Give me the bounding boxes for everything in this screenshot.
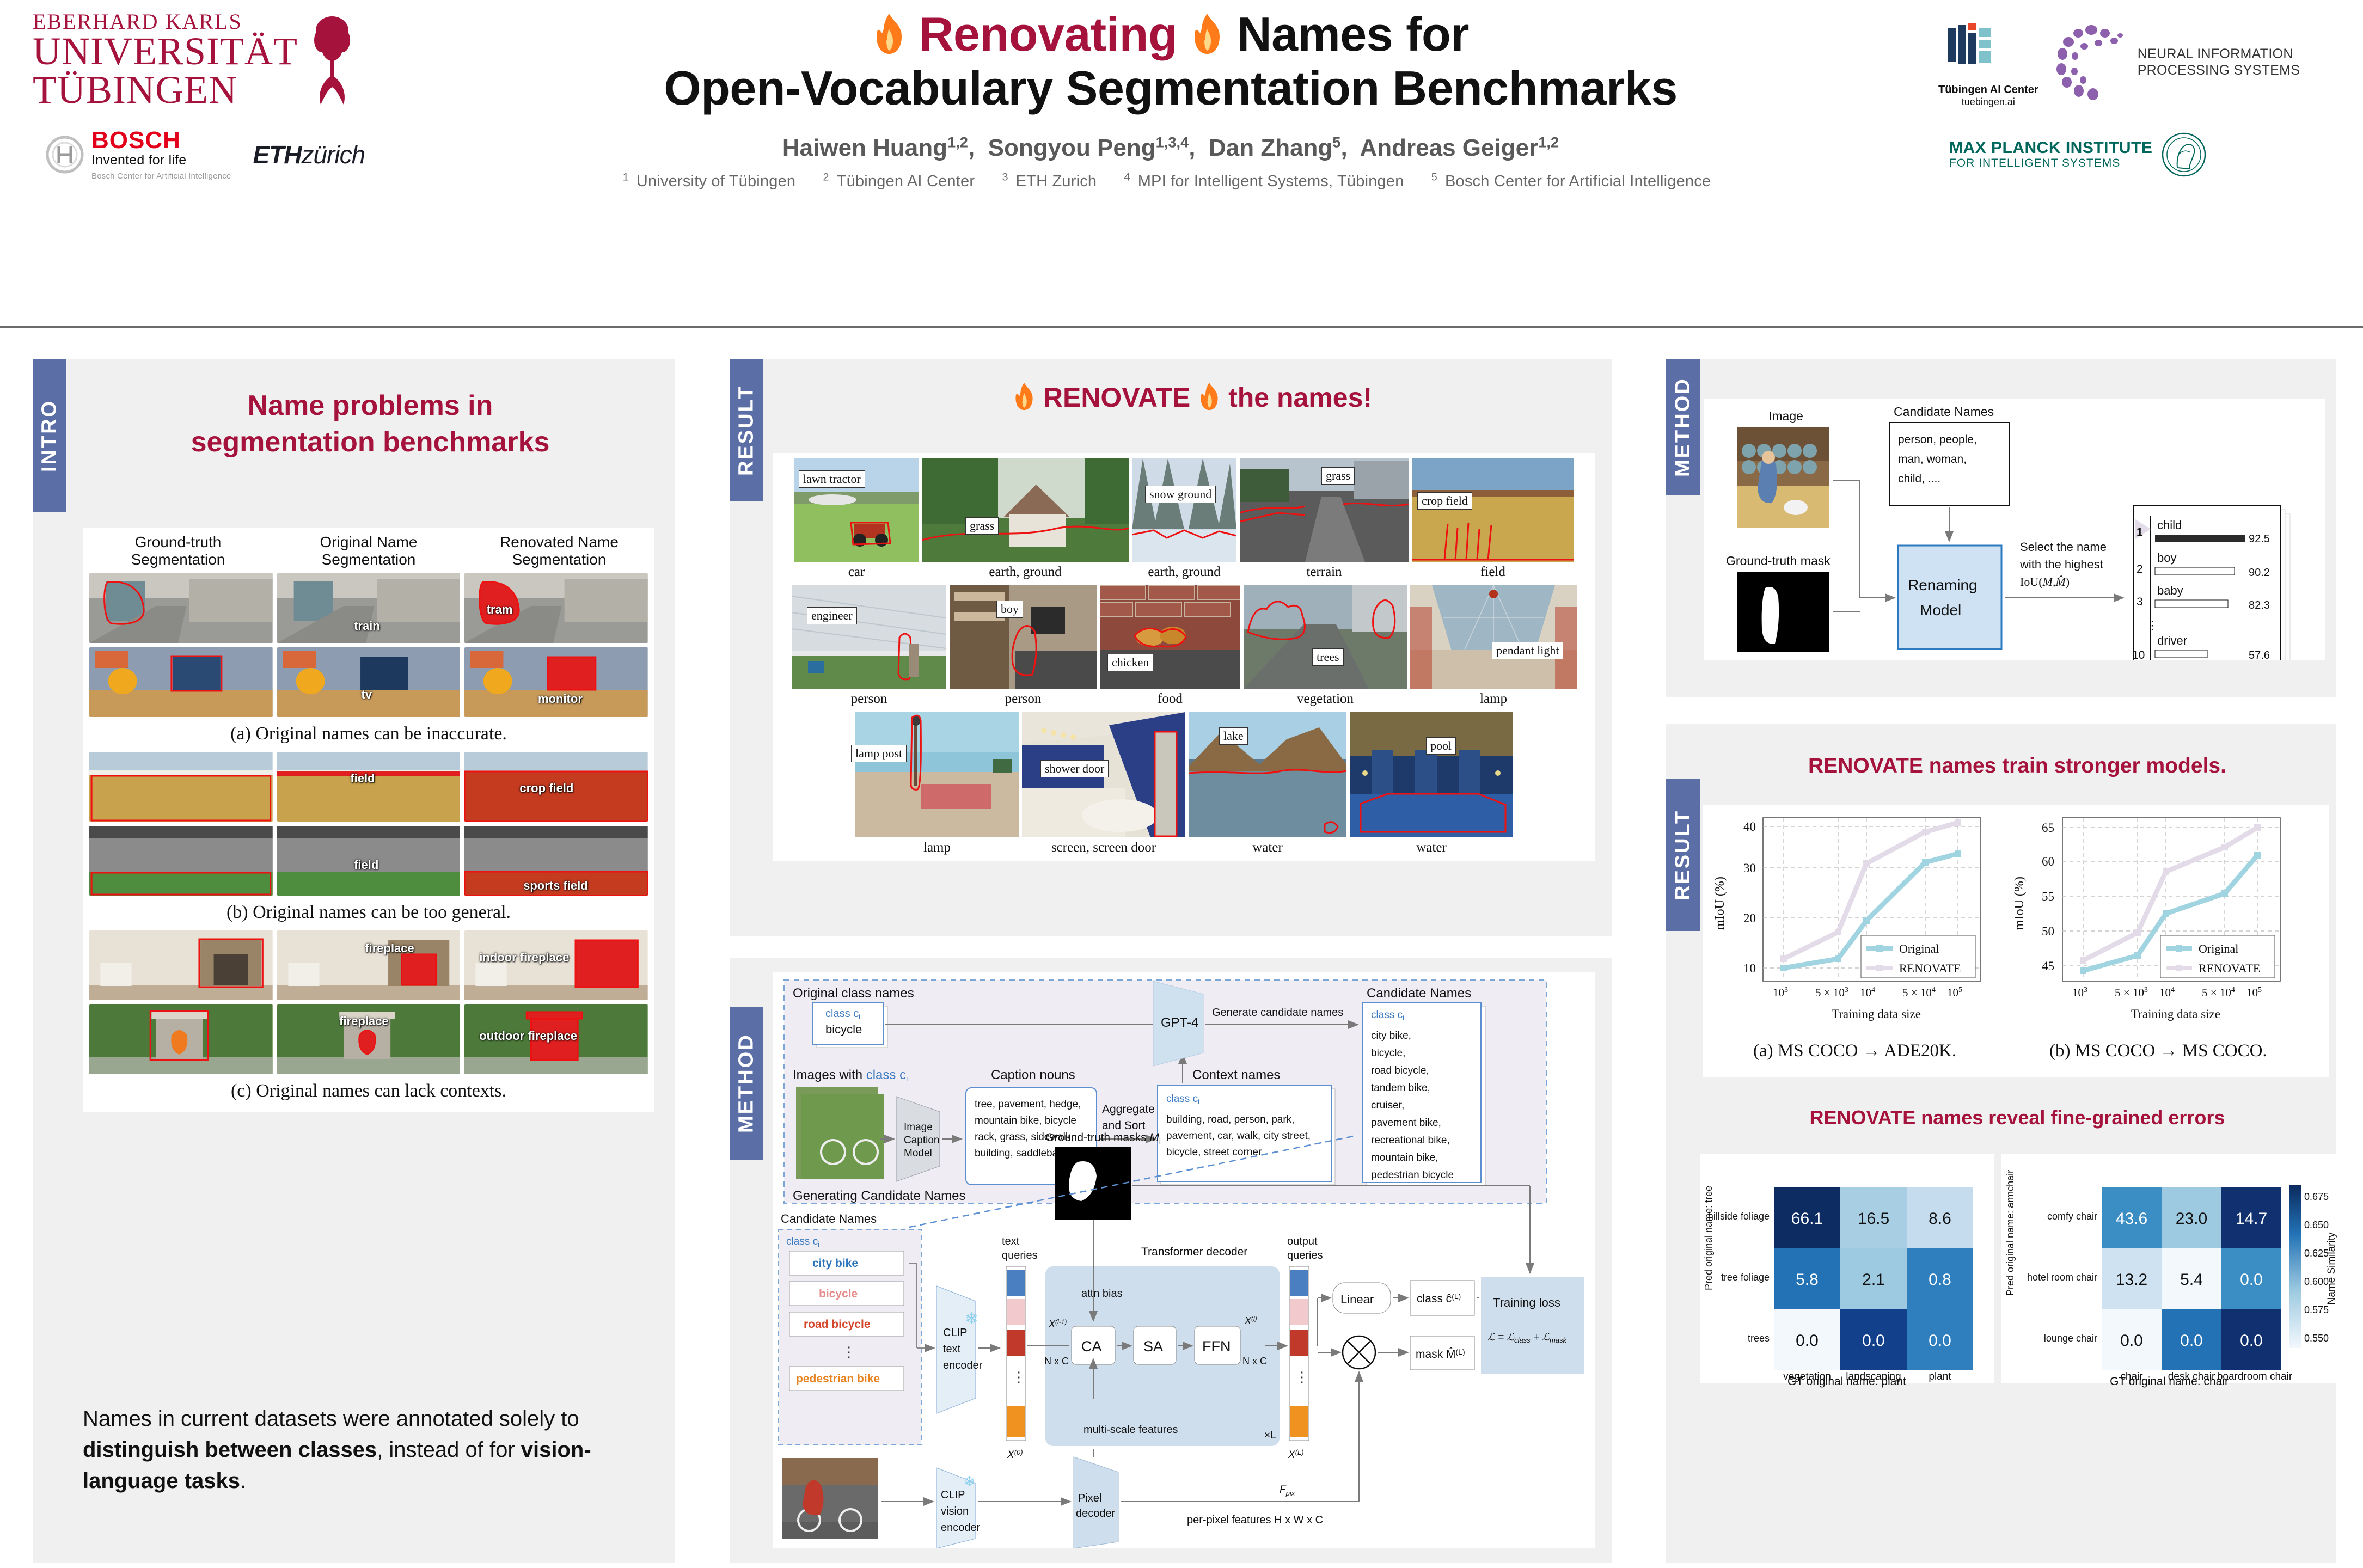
svg-text:road bicycle,: road bicycle, [1371, 1065, 1429, 1076]
rank-3-index: 3 [2137, 596, 2143, 608]
bubble-pool: pool [1426, 737, 1456, 755]
intro-label-renov: indoor fireplace [479, 951, 569, 964]
label-stage1-title: Generating Candidate Names [793, 1189, 966, 1203]
svg-text:CLIP: CLIP [943, 1327, 967, 1339]
svg-text:pedestrian bicycle: pedestrian bicycle [1371, 1169, 1454, 1181]
colorbar-tick-1: 0.650 [2304, 1220, 2329, 1230]
result-grid-panel: RESULT RENOVATE the names! [730, 359, 1612, 936]
tue-hexagon-icon [1938, 16, 1998, 81]
label-select-1: Select the name [2020, 540, 2107, 554]
svg-text:CLIP: CLIP [941, 1489, 965, 1501]
neurips-line2: PROCESSING SYSTEMS [2138, 62, 2300, 78]
svg-text:Fpix: Fpix [1280, 1484, 1295, 1497]
label-caption-model-3: Model [904, 1148, 932, 1159]
intro-row-tram: train tram [83, 573, 654, 643]
intro-cell-orig: train [277, 573, 461, 643]
intro-cell-orig: fireplace [277, 930, 461, 1000]
heatmap2-cell-2-0: 0.0 [2120, 1332, 2143, 1350]
svg-text:road bicycle: road bicycle [804, 1318, 871, 1331]
poster-header: EBERHARD KARLS UNIVERSITÄT TÜBINGEN [0, 0, 2363, 348]
bosch-logo: BOSCH Invented for life Bosch Center for… [46, 128, 231, 181]
svg-text:class ci: class ci [1371, 1009, 1404, 1022]
uni-name-line2: TÜBINGEN [33, 71, 298, 109]
fire-icon-right-2 [1198, 382, 1221, 411]
colorbar-tick-5: 0.550 [2304, 1333, 2329, 1344]
heatmap2-cell-1-1: 5.4 [2180, 1271, 2203, 1289]
heatmap1-cell-0-1: 16.5 [1858, 1210, 1889, 1228]
neurips-swirl-icon [2050, 21, 2132, 103]
label-candidate-names-1: Candidate Names [1367, 986, 1471, 1001]
label-images-with: Images with class ci [793, 1068, 908, 1083]
bubble-snow-ground: snow ground [1145, 486, 1216, 503]
intro-label-orig: train [354, 619, 380, 633]
heatmap2-cell-1-0: 13.2 [2116, 1271, 2147, 1289]
title-block: Renovating Names for Open-Vocabulary Seg… [425, 8, 1917, 191]
heatmap1-ytick-1: tree foliage [1721, 1272, 1770, 1283]
svg-text:tandem bike,: tandem bike, [1371, 1082, 1430, 1094]
chart-a-xtick-2: 104 [1860, 986, 1875, 999]
caption-earth-ground-1: earth, ground [922, 565, 1129, 580]
chart-b-caption: (b) MS COCO → MS COCO. [2049, 1041, 2267, 1061]
chart-a-ylabel: mIoU (%) [1713, 877, 1727, 930]
caption-terrain: terrain [1240, 565, 1409, 580]
label-gpt4: GPT-4 [1161, 1015, 1198, 1030]
label-per-pixel: per-pixel features H x W x C [1187, 1514, 1323, 1526]
text-context-2: pavement, car, walk, city street, [1166, 1130, 1311, 1142]
mpi-line2: FOR INTELLIGENT SYSTEMS [1949, 157, 2152, 170]
bubble-crop-field: crop field [1417, 492, 1472, 510]
label-generate-arrow: Generate candidate names [1212, 1007, 1343, 1019]
result-charts-title: RENOVATE names train stronger models. [1710, 752, 2325, 780]
heatmap1-cell-0-0: 66.1 [1791, 1210, 1823, 1228]
heatmap2-ylabel: Pred original name: armchair [2005, 1170, 2016, 1296]
chart-a-ytick-20: 20 [1743, 911, 1756, 925]
tuebingen-ai-center-logo: Tübingen AI Center tuebingen.ai [1938, 16, 2038, 108]
text-caption-nouns-4: building, saddlebag [975, 1148, 1064, 1159]
label-original-class-names: Original class names [793, 986, 914, 1001]
svg-text:encoder: encoder [943, 1359, 983, 1371]
intro-note-part3: . [240, 1469, 246, 1493]
svg-text:⋮: ⋮ [1295, 1369, 1309, 1385]
eth-bold: ETH [253, 140, 301, 169]
result-grid-title-rest: the names! [1228, 382, 1372, 413]
examples-row-1: lawn tractor car grass earth, ground [776, 458, 1592, 580]
rank-2-name: boy [2157, 551, 2176, 565]
svg-text:class ci: class ci [786, 1236, 819, 1248]
intro-row-sportsfield: field sports field [83, 826, 654, 896]
chart-b-xtick-0: 103 [2072, 986, 2087, 999]
intro-note-part1: Names in current datasets were annotated… [83, 1407, 579, 1431]
heatmap1-cell-1-2: 0.8 [1929, 1271, 1951, 1289]
affiliation-2: 3ETH Zurich [1002, 173, 1104, 190]
intro-label-orig: fireplace [365, 941, 414, 955]
chart-a-ytick-10: 10 [1743, 961, 1756, 975]
label-caption-model-2: Caption [904, 1135, 940, 1146]
heatmap2-ytick-2: lounge chair [2044, 1333, 2097, 1344]
heatmap2-cell-1-2: 0.0 [2240, 1271, 2263, 1289]
chart-a-legend-original: Original [1899, 942, 1939, 955]
heatmaps-row: Pred original name: tree hillside foliag… [1700, 1154, 2337, 1394]
svg-text:⋮: ⋮ [1012, 1369, 1026, 1385]
example-screen-door: shower door screen, screen door [1022, 712, 1185, 855]
svg-text:⋮: ⋮ [842, 1344, 856, 1360]
label-text-queries-2: queries [1002, 1249, 1038, 1261]
label-attn-bias: attn bias [1081, 1288, 1123, 1300]
bubble-shower-door: shower door [1040, 760, 1109, 777]
example-terrain: grass terrain [1240, 458, 1409, 580]
intro-label-orig: tv [362, 688, 372, 702]
text-candidates-1: person, people, [1898, 433, 1977, 446]
heatmap2-cell-0-1: 23.0 [2176, 1210, 2207, 1228]
heatmap2-cell-0-0: 43.6 [2116, 1210, 2147, 1228]
svg-text:X(0): X(0) [1007, 1448, 1023, 1461]
chart-a-ytick-40: 40 [1743, 820, 1756, 834]
bubble-lamp-post: lamp post [851, 745, 907, 762]
chart-b-ytick-55: 55 [2042, 890, 2054, 903]
example-lamp-2: lamp post lamp [855, 712, 1019, 855]
rank-2-score: 90.2 [2249, 567, 2270, 579]
renovate-examples-grid: lawn tractor car grass earth, ground [773, 453, 1595, 861]
rank-10-index: 10 [2132, 649, 2145, 660]
intro-figure: Ground-truthSegmentation Original NameSe… [83, 528, 654, 1112]
intro-label-orig: field [350, 771, 375, 786]
caption-car: car [794, 565, 919, 580]
section-tab-result-1: RESULT [730, 359, 763, 501]
bubble-lawn-tractor: lawn tractor [799, 470, 865, 488]
examples-row-3: lamp post lamp shower door screen, scree… [776, 712, 1592, 855]
rank-10-name: driver [2157, 634, 2187, 647]
label-context-names: Context names [1192, 1068, 1280, 1082]
caption-screen-door: screen, screen door [1022, 840, 1185, 855]
chart-b-ytick-60: 60 [2042, 855, 2054, 868]
heatmap1-cell-1-1: 2.1 [1862, 1271, 1885, 1289]
caption-food: food [1100, 691, 1240, 707]
intro-row-outdoor-fireplace: fireplace outdoor fireplace [83, 1004, 654, 1074]
header-divider [0, 326, 2363, 328]
chart-b-xtick-4: 105 [2246, 986, 2262, 999]
chart-b-legend-renovate: RENOVATE [2199, 961, 2260, 975]
svg-text:cruiser,: cruiser, [1371, 1100, 1404, 1111]
author-2: Dan Zhang5 [1209, 134, 1341, 161]
intro-note-part2: , instead of for [377, 1438, 521, 1462]
label-candidate-names-2: Candidate Names [781, 1212, 877, 1226]
author-3: Andreas Geiger1,2 [1360, 134, 1559, 161]
intro-label-renov: sports field [523, 879, 588, 893]
label-multi-scale: multi-scale features [1083, 1424, 1178, 1436]
intro-cell-renov: sports field [464, 826, 648, 896]
affiliation-0: 1University of Tübingen [623, 173, 804, 190]
svg-text:⋮: ⋮ [2146, 618, 2158, 632]
intro-title-line1: Name problems in [82, 388, 659, 424]
example-car: lawn tractor car [794, 458, 919, 580]
intro-label-renov: crop field [519, 781, 573, 795]
heatmap2-ytick-1: hotel room chair [2027, 1272, 2097, 1283]
caption-lamp-2: lamp [855, 840, 1019, 855]
chart-a-xtick-4: 105 [1947, 986, 1962, 999]
bubble-chicken: chicken [1107, 654, 1153, 671]
text-context-1: building, road, person, park, [1166, 1114, 1295, 1125]
heatmap1-cell-1-0: 5.8 [1796, 1271, 1819, 1289]
eth-zurich-logo: ETHzürich [253, 140, 365, 169]
intro-cell-renov: indoor fireplace [464, 930, 648, 1000]
intro-cell-gt [89, 1004, 273, 1074]
tuebingen-tree-icon [311, 14, 353, 107]
intro-cell-renov: outdoor fireplace [464, 1004, 648, 1074]
right-logo-group: Tübingen AI Center tuebingen.ai [1938, 16, 2341, 177]
affiliation-list: 1University of Tübingen 2Tübingen AI Cen… [425, 171, 1917, 191]
label-text-queries-1: text [1002, 1235, 1020, 1247]
heatmap1-ytick-0: hillside foliage [1708, 1211, 1770, 1222]
intro-cell-gt [89, 573, 273, 643]
minerva-icon [2161, 132, 2207, 177]
caption-person-1: person [792, 691, 946, 707]
chart-a-legend-renovate: RENOVATE [1899, 961, 1961, 975]
example-earth-ground-2: snow ground earth, ground [1132, 458, 1236, 580]
affiliation-1: 2Tübingen AI Center [823, 173, 983, 190]
poster-root: EBERHARD KARLS UNIVERSITÄT TÜBINGEN [0, 0, 2363, 1568]
bubble-grass-1: grass [965, 517, 999, 535]
intro-col-2: Renovated NameSegmentation [464, 534, 654, 569]
text-caption-nouns-2: mountain bike, bicycle [975, 1115, 1076, 1126]
colorbar-label: Name Similarity [2326, 1232, 2337, 1305]
caption-field: field [1412, 565, 1574, 580]
result-heatmaps-title: RENOVATE names reveal fine-grained error… [1710, 1105, 2325, 1130]
bubble-pendant-light: pendant light [1492, 642, 1563, 659]
bubble-grass-2: grass [1321, 467, 1355, 485]
colorbar-tick-2: 0.625 [2304, 1248, 2329, 1259]
intro-cell-renov: tram [464, 573, 648, 643]
mpi-line1: MAX PLANCK INSTITUTE [1949, 139, 2152, 157]
example-earth-ground-1: grass earth, ground [922, 458, 1129, 580]
svg-text:X(L): X(L) [1288, 1448, 1304, 1461]
intro-panel: INTRO Name problems in segmentation benc… [33, 359, 675, 1563]
sponsor-logo-row: BOSCH Invented for life Bosch Center for… [46, 128, 425, 181]
label-output-queries-2: queries [1287, 1249, 1323, 1261]
intro-cell-orig: fireplace [277, 1004, 461, 1074]
method-overview-panel: METHOD Image Ground-truth mask [1666, 359, 2336, 697]
bosch-wordmark: BOSCH [91, 128, 231, 152]
label-select-2: with the highest [2019, 558, 2103, 571]
fire-icon-right [1190, 13, 1224, 55]
heatmap1-cell-2-1: 0.0 [1862, 1332, 1885, 1350]
section-tab-result-2: RESULT [1666, 779, 1700, 931]
text-context-3: bicycle, street corner [1166, 1147, 1262, 1158]
label-ffn: FFN [1202, 1338, 1231, 1355]
title-line2: Open-Vocabulary Segmentation Benchmarks [425, 62, 1917, 115]
intro-row-monitor: tv monitor [83, 647, 654, 717]
heatmap1-ytick-2: trees [1748, 1333, 1770, 1344]
intro-cell-orig: tv [277, 647, 461, 717]
svg-text:city bike: city bike [812, 1257, 858, 1270]
intro-column-headers: Ground-truthSegmentation Original NameSe… [83, 534, 654, 569]
svg-text:pavement bike,: pavement bike, [1371, 1117, 1441, 1129]
caption-vegetation: vegetation [1244, 691, 1407, 707]
chart-b-xtick-2: 104 [2159, 986, 2175, 999]
label-aggregate-2: and Sort [1102, 1119, 1146, 1132]
text-candidates-2: man, woman, [1898, 453, 1967, 465]
heatmap2-cell-2-1: 0.0 [2180, 1332, 2203, 1350]
heatmap1-cell-0-2: 8.6 [1929, 1210, 1951, 1228]
section-tab-method-2: METHOD [730, 1007, 763, 1160]
label-class-value: bicycle [825, 1022, 862, 1036]
chart-b-ytick-50: 50 [2042, 924, 2054, 938]
bubble-trees: trees [1312, 648, 1344, 666]
examples-row-2: engineer person boy person [776, 585, 1592, 707]
example-water-2: pool water [1350, 712, 1513, 855]
intro-label-renov: outdoor fireplace [479, 1030, 577, 1042]
heatmap2-ytick-0: comfy chair [2047, 1211, 2097, 1222]
example-person-2: boy person [950, 585, 1097, 707]
rank-1-index: 1 [2137, 526, 2143, 538]
label-image: Image [1768, 409, 1803, 423]
chart-a-xlabel: Training data size [1832, 1007, 1921, 1021]
label-aggregate-1: Aggregate [1102, 1103, 1155, 1116]
svg-text:pedestrian bike: pedestrian bike [796, 1373, 880, 1385]
intro-row-indoor-fireplace: fireplace indoor fireplace [83, 930, 654, 1000]
author-0: Haiwen Huang1,2 [782, 134, 968, 161]
label-ca: CA [1081, 1338, 1102, 1355]
label-context-class: class ci [1166, 1093, 1199, 1106]
rank-3-score: 82.3 [2249, 599, 2270, 611]
caption-person-2: person [950, 691, 1097, 707]
caption-earth-ground-2: earth, ground [1132, 565, 1236, 580]
svg-text:mountain bike,: mountain bike, [1371, 1152, 1438, 1163]
result-grid-title: RENOVATE the names! [789, 380, 1595, 415]
label-linear: Linear [1340, 1293, 1374, 1306]
method-pipeline-panel: METHOD Original class names class ci bic… [730, 958, 1612, 1563]
method-overview-figure: Image Ground-truth mask Candidate Names [1704, 399, 2325, 660]
rank-3-name: baby [2157, 584, 2183, 597]
intro-title: Name problems in segmentation benchmarks [82, 388, 659, 460]
colorbar-tick-4: 0.575 [2304, 1304, 2329, 1315]
example-lamp-1: pendant light lamp [1410, 585, 1577, 707]
label-candidate-names: Candidate Names [1894, 405, 1994, 419]
intro-note-bold1: distinguish between classes [83, 1438, 377, 1462]
heatmap1-ylabel: Pred original name: tree [1703, 1186, 1714, 1290]
svg-text:text: text [943, 1343, 961, 1355]
intro-cell-gt [89, 647, 273, 717]
intro-title-line2: segmentation benchmarks [82, 424, 659, 461]
method-pipeline-figure: Original class names class ci bicycle Im… [773, 972, 1595, 1548]
label-training-loss: Training loss [1493, 1296, 1560, 1309]
result-grid-title-word: RENOVATE [1043, 382, 1190, 413]
text-caption-nouns-1: tree, pavement, hedge, [975, 1099, 1081, 1110]
chart-b-ytick-65: 65 [2042, 821, 2054, 835]
example-water-1: lake water [1189, 712, 1346, 855]
label-gt-masks: Ground-truth masks Mi [1045, 1131, 1161, 1146]
intro-label-renov: monitor [538, 692, 583, 706]
heatmap1-xtick-2: plant [1929, 1371, 1951, 1382]
heatmap2-cell-0-2: 14.7 [2236, 1210, 2267, 1228]
colorbar-tick-3: 0.600 [2304, 1276, 2329, 1287]
label-sa: SA [1143, 1338, 1163, 1355]
svg-text:vision: vision [941, 1505, 969, 1517]
label-output-queries-1: output [1287, 1235, 1318, 1247]
chart-b-ylabel: mIoU (%) [2012, 877, 2027, 930]
chart-b-ytick-45: 45 [2042, 959, 2054, 973]
chart-b-xtick-1: 5 × 103 [2115, 986, 2148, 999]
intro-cell-orig: field [277, 752, 461, 822]
title-highlight-word: Renovating [919, 7, 1177, 61]
colorbar-tick-0: 0.675 [2304, 1191, 2329, 1202]
svg-text:❄: ❄ [964, 1473, 976, 1490]
intro-col-0: Ground-truthSegmentation [83, 534, 273, 569]
intro-label-orig: field [354, 858, 378, 872]
svg-text:×L: ×L [1264, 1430, 1276, 1441]
svg-text:N x C: N x C [1242, 1356, 1267, 1367]
fire-icon-left [872, 13, 906, 55]
label-renaming-model-2: Model [1920, 602, 1961, 618]
result-charts-panel: RESULT RENOVATE names train stronger mod… [1666, 724, 2336, 1563]
intro-cell-gt [89, 752, 273, 822]
title-line1-rest: Names for [1237, 7, 1469, 61]
tue-ai-center-url: tuebingen.ai [1938, 96, 2038, 108]
chart-b-xlabel: Training data size [2131, 1007, 2220, 1021]
label-class-tag: class ci [825, 1008, 860, 1021]
intro-cell-gt [89, 826, 273, 896]
heatmap1-cell-2-0: 0.0 [1796, 1332, 1819, 1350]
intro-label-renov: tram [487, 603, 513, 617]
svg-text:bicycle,: bicycle, [1371, 1048, 1405, 1059]
intro-caption-a: (a) Original names can be inaccurate. [83, 724, 654, 744]
bubble-engineer: engineer [807, 607, 857, 624]
label-select-3: IoU(M,M̂) [2020, 575, 2070, 589]
intro-cell-renov: crop field [464, 752, 648, 822]
affiliation-4: 5Bosch Center for Artificial Intelligenc… [1431, 173, 1719, 190]
example-vegetation: trees vegetation [1244, 585, 1407, 707]
label-caption-nouns: Caption nouns [991, 1068, 1075, 1082]
author-list: Haiwen Huang1,2, Songyou Peng1,3,4, Dan … [425, 133, 1917, 162]
svg-text:city bike,: city bike, [1371, 1030, 1411, 1042]
affiliation-3: 4MPI for Intelligent Systems, Tübingen [1124, 173, 1412, 190]
heatmap1-cell-2-2: 0.0 [1929, 1332, 1951, 1350]
chart-a-xtick-3: 5 × 104 [1902, 986, 1936, 999]
neurips-wordmark: NEURAL INFORMATION PROCESSING SYSTEMS [2138, 46, 2300, 78]
chart-a-xtick-1: 5 × 103 [1815, 986, 1848, 999]
chart-b-legend-original: Original [2199, 942, 2238, 955]
label-caption-model-1: Image [904, 1122, 933, 1133]
chart-a: 10 20 30 40 mIoU (%) Or [1713, 818, 1981, 1061]
svg-text:bicycle: bicycle [819, 1288, 858, 1300]
max-planck-logo: MAX PLANCK INSTITUTE FOR INTELLIGENT SYS… [1949, 132, 2341, 177]
label-transformer-decoder: Transformer decoder [1141, 1246, 1247, 1258]
heatmap-chair: Pred original name: armchair comfy chair… [2001, 1154, 2337, 1383]
fire-icon-left-2 [1013, 382, 1036, 411]
uni-name-line1: UNIVERSITÄT [33, 32, 298, 71]
author-1: Songyou Peng1,3,4 [988, 134, 1189, 161]
caption-water-1: water [1189, 840, 1346, 855]
intro-note: Names in current datasets were annotated… [83, 1404, 660, 1496]
intro-cell-renov: monitor [464, 647, 648, 717]
intro-label-orig: fireplace [339, 1014, 389, 1028]
bosch-symbol-icon [46, 136, 84, 174]
rank-10-score: 57.6 [2249, 650, 2270, 660]
svg-text:recreational bike,: recreational bike, [1371, 1135, 1450, 1146]
intro-cell-orig: field [277, 826, 461, 896]
section-tab-intro: INTRO [33, 359, 66, 512]
rank-1-name: child [2157, 518, 2182, 532]
neurips-line1: NEURAL INFORMATION [2138, 46, 2300, 62]
intro-row-cropfield: field crop field [83, 752, 654, 822]
left-logo-group: EBERHARD KARLS UNIVERSITÄT TÜBINGEN [33, 11, 425, 181]
heatmap2-cell-2-2: 0.0 [2240, 1332, 2263, 1350]
chart-a-ytick-30: 30 [1743, 861, 1756, 875]
eth-italic: zürich [301, 140, 365, 169]
bosch-center-label: Bosch Center for Artificial Intelligence [91, 171, 231, 181]
intro-cell-gt [89, 930, 273, 1000]
intro-col-1: Original NameSegmentation [273, 534, 464, 569]
section-tab-method-1: METHOD [1666, 359, 1700, 495]
